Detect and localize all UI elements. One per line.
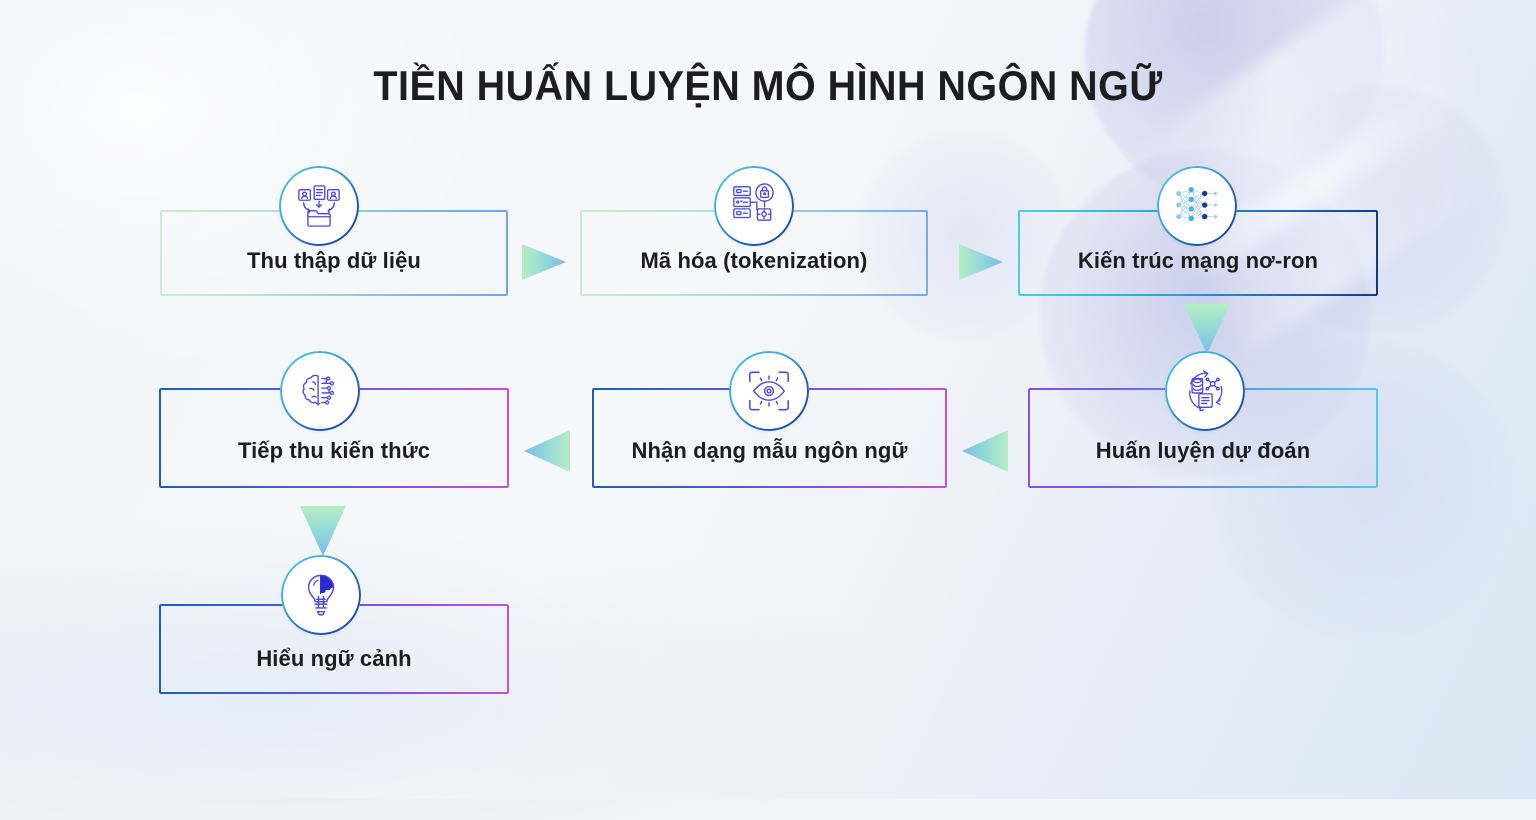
connector-arrow-1-2 (518, 236, 570, 288)
training-cycle-database-icon-circle (1165, 351, 1245, 431)
server-lock-encryption-icon-circle (714, 166, 794, 246)
neural-network-icon-circle (1157, 166, 1237, 246)
connector-arrow-2-3 (955, 236, 1007, 288)
lightbulb-puzzle-icon-circle (281, 555, 361, 635)
decorative-blob-icon (1215, 340, 1515, 640)
brain-circuit-icon-circle (280, 351, 360, 431)
data-collection-folder-icon (296, 183, 342, 229)
training-cycle-database-icon (1182, 368, 1228, 414)
connector-arrow-3-4 (1172, 300, 1242, 358)
brain-circuit-icon (297, 368, 343, 414)
neural-network-icon (1172, 184, 1222, 228)
decorative-sheen-icon (0, 0, 500, 380)
eye-scan-pattern-icon-circle (729, 351, 809, 431)
lightbulb-puzzle-icon (299, 572, 343, 618)
server-lock-encryption-icon (731, 183, 777, 229)
connector-arrow-5-6 (520, 424, 576, 478)
eye-scan-pattern-icon (746, 368, 792, 414)
page-title: TIỀN HUẤN LUYỆN MÔ HÌNH NGÔN NGỮ (46, 62, 1490, 110)
data-collection-folder-icon-circle (279, 166, 359, 246)
connector-arrow-4-5 (958, 424, 1014, 478)
connector-arrow-6-7 (288, 502, 358, 560)
